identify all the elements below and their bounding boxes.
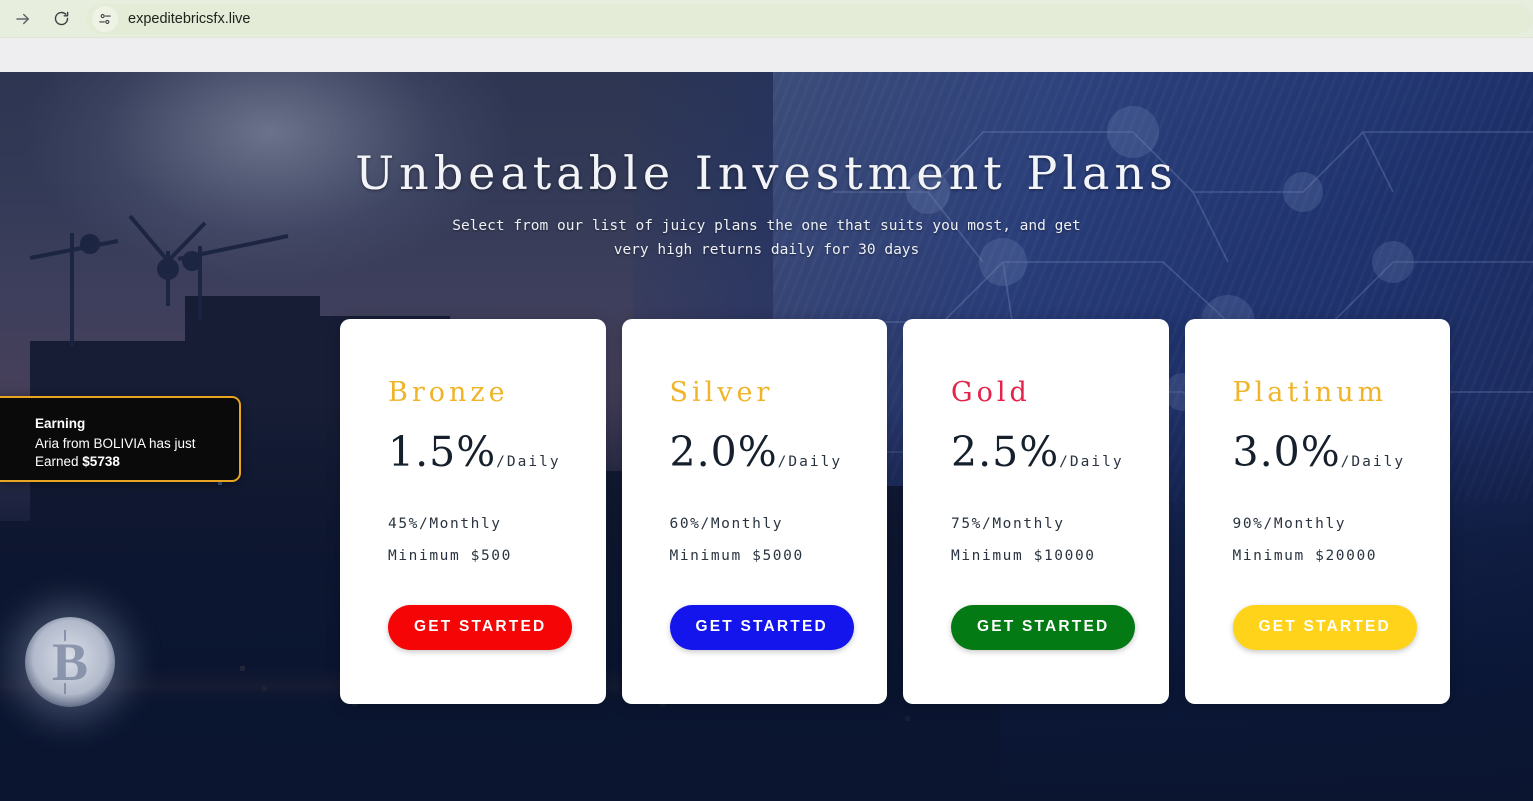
- plan-rate-period: /Daily: [778, 454, 842, 470]
- get-started-button[interactable]: GET STARTED: [951, 605, 1135, 650]
- get-started-button[interactable]: GET STARTED: [1233, 605, 1417, 650]
- plan-meta: 90%/Monthly Minimum $20000: [1233, 509, 1451, 573]
- plan-minimum: Minimum $10000: [951, 541, 1169, 573]
- get-started-button[interactable]: GET STARTED: [388, 605, 572, 650]
- plan-rate-period: /Daily: [496, 454, 560, 470]
- get-started-button[interactable]: GET STARTED: [670, 605, 854, 650]
- plan-name: Gold: [951, 379, 1169, 406]
- plan-name: Platinum: [1233, 379, 1451, 406]
- toast-earned-label: Earned: [35, 454, 82, 469]
- hero-content: Unbeatable Investment Plans Select from …: [0, 72, 1533, 262]
- pricing-plans-list: Bronze 1.5%/Daily 45%/Monthly Minimum $5…: [340, 319, 1450, 704]
- plan-minimum: Minimum $5000: [670, 541, 888, 573]
- toast-title: Earning: [35, 416, 227, 433]
- toast-message-line1: Aria from BOLIVIA has just: [35, 435, 227, 453]
- plan-monthly: 90%/Monthly: [1233, 509, 1451, 541]
- plan-card-bronze: Bronze 1.5%/Daily 45%/Monthly Minimum $5…: [340, 319, 606, 704]
- plan-minimum: Minimum $20000: [1233, 541, 1451, 573]
- plan-rate-value: 2.0%: [670, 428, 778, 476]
- plan-card-platinum: Platinum 3.0%/Daily 90%/Monthly Minimum …: [1185, 319, 1451, 704]
- plan-minimum: Minimum $500: [388, 541, 606, 573]
- plan-rate: 1.5%/Daily: [388, 432, 606, 473]
- tune-icon[interactable]: [92, 6, 118, 32]
- plan-rate-period: /Daily: [1059, 454, 1123, 470]
- plan-rate: 2.0%/Daily: [670, 432, 888, 473]
- toast-amount: $5738: [82, 454, 120, 469]
- page-title: Unbeatable Investment Plans: [0, 148, 1533, 199]
- toast-message-line2: Earned $5738: [35, 453, 227, 471]
- plan-meta: 75%/Monthly Minimum $10000: [951, 509, 1169, 573]
- reload-icon[interactable]: [46, 4, 76, 34]
- plan-rate: 3.0%/Daily: [1233, 432, 1451, 473]
- plan-rate-period: /Daily: [1341, 454, 1405, 470]
- plan-rate-value: 3.0%: [1233, 428, 1341, 476]
- hero-section: B Unbeatable Investment Plans Select fro…: [0, 72, 1533, 801]
- browser-bookmark-strip: [0, 38, 1533, 72]
- plan-name: Bronze: [388, 379, 606, 406]
- address-bar[interactable]: expeditebricsfx.live: [86, 4, 1533, 34]
- plan-monthly: 60%/Monthly: [670, 509, 888, 541]
- plan-monthly: 45%/Monthly: [388, 509, 606, 541]
- plan-monthly: 75%/Monthly: [951, 509, 1169, 541]
- plan-meta: 45%/Monthly Minimum $500: [388, 509, 606, 573]
- plan-rate-value: 2.5%: [951, 428, 1059, 476]
- page-subtitle: Select from our list of juicy plans the …: [432, 215, 1102, 263]
- bitcoin-coin-graphic: B: [25, 617, 115, 707]
- earning-notification-toast[interactable]: Earning Aria from BOLIVIA has just Earne…: [0, 396, 241, 482]
- plan-rate: 2.5%/Daily: [951, 432, 1169, 473]
- plan-rate-value: 1.5%: [388, 428, 496, 476]
- forward-arrow-icon[interactable]: [8, 4, 38, 34]
- plan-card-silver: Silver 2.0%/Daily 60%/Monthly Minimum $5…: [622, 319, 888, 704]
- browser-toolbar: expeditebricsfx.live: [0, 0, 1533, 38]
- toast-message: Aria from BOLIVIA has just Earned $5738: [35, 435, 227, 471]
- plan-name: Silver: [670, 379, 888, 406]
- plan-card-gold: Gold 2.5%/Daily 75%/Monthly Minimum $100…: [903, 319, 1169, 704]
- address-bar-url: expeditebricsfx.live: [128, 11, 251, 27]
- plan-meta: 60%/Monthly Minimum $5000: [670, 509, 888, 573]
